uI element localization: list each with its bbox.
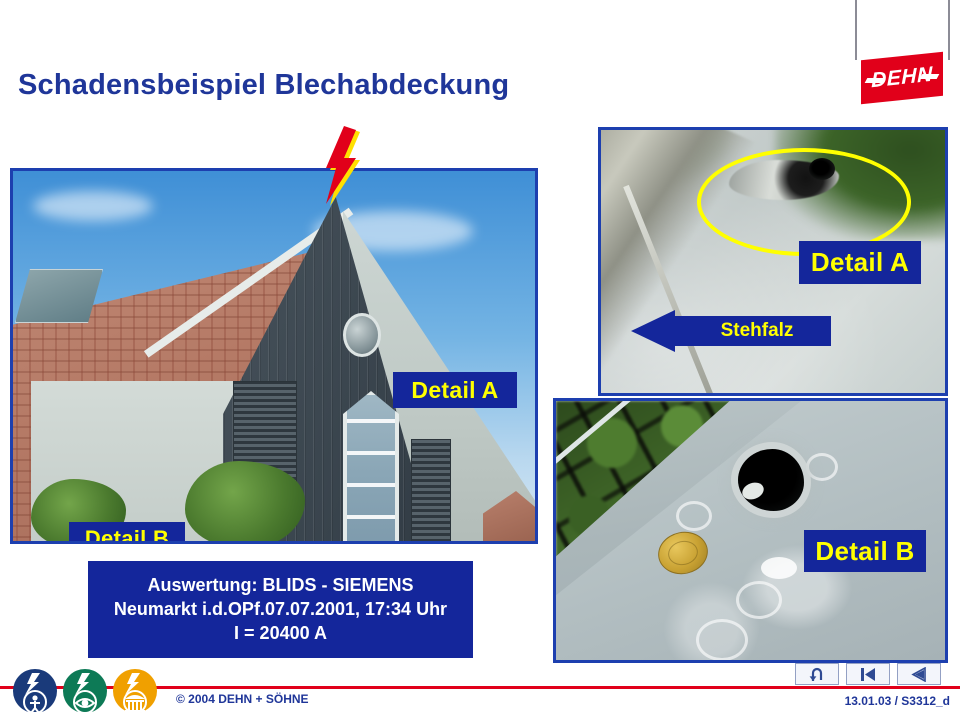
skip-to-start-icon	[859, 667, 877, 682]
page-title: Schadensbeispiel Blechabdeckung	[18, 69, 509, 102]
previous-slide-button[interactable]	[897, 663, 941, 685]
arrow-head-icon	[631, 310, 675, 352]
caption-line-1: Auswertung: BLIDS - SIEMENS	[147, 575, 413, 596]
slide-id-text: 13.01.03 / S3312_d	[845, 694, 950, 708]
round-window	[343, 313, 381, 357]
dehn-personal-protection-logo	[12, 668, 58, 714]
photo-standing-seam-detail: Detail A Stehfalz	[598, 127, 948, 396]
water-stain-ring	[676, 501, 712, 531]
caption-line-3: I = 20400 A	[234, 623, 327, 644]
foliage-bush	[185, 461, 305, 544]
louvre-shutter	[411, 439, 451, 544]
stehfalz-callout-arrow: Stehfalz	[631, 310, 831, 352]
return-button[interactable]	[795, 663, 839, 685]
header-divider-line-right	[948, 0, 950, 60]
stehfalz-label: Stehfalz	[683, 316, 831, 346]
detail-a-label-seam: Detail A	[799, 241, 921, 284]
evaluation-caption-box: Auswertung: BLIDS - SIEMENS Neumarkt i.d…	[88, 561, 473, 658]
header-divider-line-left	[855, 0, 857, 60]
first-slide-button[interactable]	[846, 663, 890, 685]
navigation-bar	[795, 663, 941, 685]
tall-gable-window	[343, 391, 399, 544]
photo-house: Detail A Detail B	[10, 168, 538, 544]
back-triangle-icon	[911, 667, 927, 682]
metal-splatter	[761, 557, 797, 579]
slide-canvas: DEHN Schadensbeispiel Blechabdeckung Det…	[0, 0, 960, 720]
solar-panel	[15, 269, 103, 323]
water-stain-ring	[736, 581, 782, 619]
photo-melted-hole-detail: Detail B	[553, 398, 948, 663]
yellow-highlight-ellipse	[697, 148, 911, 256]
cloud	[33, 191, 153, 221]
u-turn-arrow-icon	[809, 667, 825, 682]
dehn-lightning-protection-logo	[112, 668, 158, 714]
water-stain-ring	[806, 453, 838, 481]
detail-b-label-hole: Detail B	[804, 530, 926, 572]
lightning-bolt-icon	[322, 126, 366, 208]
detail-a-label-house: Detail A	[393, 372, 517, 408]
melted-hole	[738, 449, 804, 511]
copyright-text: © 2004 DEHN + SÖHNE	[176, 692, 309, 706]
dehn-logo-wordmark: DEHN	[861, 52, 943, 105]
detail-b-label-house: Detail B	[69, 522, 185, 544]
caption-line-2: Neumarkt i.d.OPf.07.07.2001, 17:34 Uhr	[114, 599, 447, 620]
dehn-logo: DEHN	[861, 56, 943, 100]
dehn-surge-protection-logo	[62, 668, 108, 714]
water-stain-ring	[696, 619, 748, 661]
